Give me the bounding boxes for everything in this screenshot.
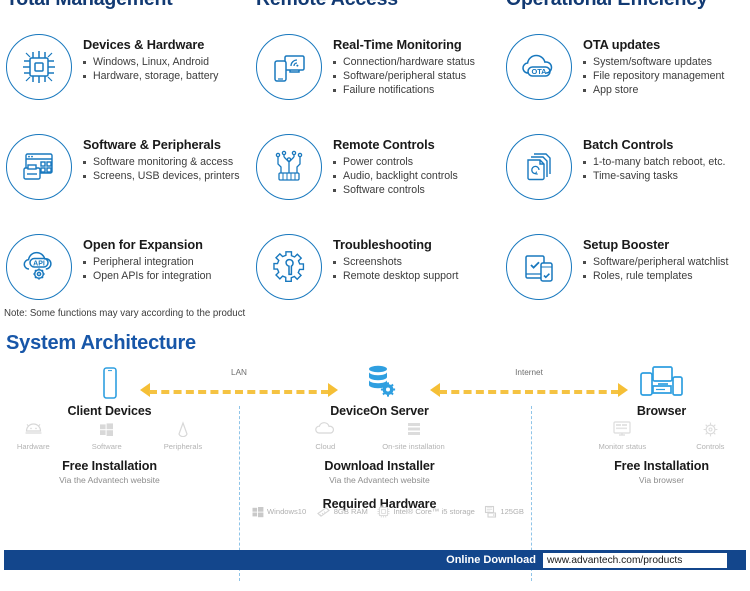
product-note: Note: Some functions may vary according … bbox=[4, 308, 245, 319]
peripherals-icon bbox=[164, 418, 202, 440]
cloud-ota-icon: OTA bbox=[506, 34, 572, 100]
feature-text: Batch Controls 1-to-many batch reboot, e… bbox=[583, 132, 726, 183]
feature-row: Software & Peripherals Software monitori… bbox=[0, 132, 750, 232]
hardware-item-windows: Windows10 bbox=[252, 506, 306, 518]
block-title: Free Installation bbox=[580, 459, 743, 473]
sub-item-label: Peripherals bbox=[164, 442, 202, 451]
feature-bullet: File repository management bbox=[583, 69, 724, 83]
arch-subicons-server: Cloud On-site installation bbox=[277, 418, 482, 451]
feature-text: Troubleshooting Screenshots Remote deskt… bbox=[333, 232, 458, 283]
feature-bullets: Software/peripheral watchlist Roles, rul… bbox=[583, 255, 728, 283]
arch-node-name: Client Devices bbox=[27, 404, 192, 418]
feature-card-setup-booster: Setup Booster Software/peripheral watchl… bbox=[500, 232, 750, 324]
controls-gear-icon bbox=[696, 418, 724, 440]
hardware-item-label: 8GB RAM bbox=[334, 507, 368, 516]
feature-bullet: Connection/hardware status bbox=[333, 55, 475, 69]
hardware-item-label: Windows10 bbox=[267, 507, 306, 516]
feature-title: Troubleshooting bbox=[333, 237, 458, 252]
feature-bullet: Roles, rule templates bbox=[583, 269, 728, 283]
arch-block-download-installer: Download Installer Via the Advantech web… bbox=[292, 459, 467, 485]
required-hardware-items: Windows10 8GB RAM Intel bbox=[252, 505, 524, 518]
feature-bullets: Peripheral integration Open APIs for int… bbox=[83, 255, 211, 283]
feature-bullet: Time-saving tasks bbox=[583, 169, 726, 183]
hardware-item-label: Intel® Core™ i5 storage bbox=[393, 507, 475, 516]
block-title: Free Installation bbox=[27, 459, 192, 473]
arch-subicons-client: Hardware Software bbox=[7, 418, 212, 451]
feature-bullets: Windows, Linux, Android Hardware, storag… bbox=[83, 55, 218, 83]
cloud-api-gear-icon: API bbox=[6, 234, 72, 300]
feature-card-software-peripherals: Software & Peripherals Software monitori… bbox=[0, 132, 250, 232]
block-subtitle: Via browser bbox=[580, 475, 743, 485]
hardware-item-cpu: Intel® Core™ i5 storage bbox=[377, 505, 475, 518]
on-site-server-icon bbox=[382, 418, 444, 440]
sub-item-label: Hardware bbox=[17, 442, 50, 451]
arch-node-client-devices: Client Devices bbox=[27, 360, 192, 418]
sub-item-monitor-status: Monitor status bbox=[599, 418, 647, 451]
feature-bullet: Open APIs for integration bbox=[83, 269, 211, 283]
feature-bullet: Power controls bbox=[333, 155, 458, 169]
hardware-item-label: 125GB bbox=[500, 507, 524, 516]
column-heading-operational-efficiency: Operational Efficiency bbox=[506, 0, 708, 11]
arch-node-name: DeviceOn Server bbox=[292, 404, 467, 418]
gear-wrench-icon bbox=[256, 234, 322, 300]
feature-bullet: Screens, USB devices, printers bbox=[83, 169, 240, 183]
arch-node-name: Browser bbox=[580, 404, 743, 418]
sub-item-label: Controls bbox=[696, 442, 724, 451]
sub-item-label: Monitor status bbox=[599, 442, 647, 451]
feature-text: Remote Controls Power controls Audio, ba… bbox=[333, 132, 458, 197]
hardware-item-storage: 125GB bbox=[484, 505, 524, 518]
feature-title: Batch Controls bbox=[583, 137, 726, 152]
database-gear-icon bbox=[292, 360, 467, 400]
arch-subicons-browser: Monitor status Controls bbox=[563, 418, 750, 451]
feature-bullet: System/software updates bbox=[583, 55, 724, 69]
feature-text: Software & Peripherals Software monitori… bbox=[83, 132, 240, 183]
feature-bullet: App store bbox=[583, 83, 724, 97]
sub-item-controls: Controls bbox=[696, 418, 724, 451]
multi-device-browser-icon bbox=[580, 360, 743, 400]
feature-title: Devices & Hardware bbox=[83, 37, 218, 52]
online-download-label: Online Download bbox=[446, 554, 536, 566]
windows-logo-icon bbox=[252, 506, 264, 518]
feature-row: Devices & Hardware Windows, Linux, Andro… bbox=[0, 32, 750, 132]
feature-title: OTA updates bbox=[583, 37, 724, 52]
feature-card-real-time-monitoring: Real-Time Monitoring Connection/hardware… bbox=[250, 32, 500, 132]
memory-stick-icon bbox=[316, 506, 331, 518]
feature-title: Open for Expansion bbox=[83, 237, 211, 252]
circuit-remote-icon bbox=[256, 134, 322, 200]
svg-text:API: API bbox=[33, 261, 45, 268]
feature-card-batch-controls: Batch Controls 1-to-many batch reboot, e… bbox=[500, 132, 750, 232]
sub-item-label: Software bbox=[92, 442, 122, 451]
software-printer-icon bbox=[6, 134, 72, 200]
android-hardware-icon bbox=[17, 418, 50, 440]
arch-node-browser: Browser bbox=[580, 360, 743, 418]
mobile-device-icon bbox=[27, 360, 192, 400]
feature-text: Real-Time Monitoring Connection/hardware… bbox=[333, 32, 475, 97]
feature-text: Setup Booster Software/peripheral watchl… bbox=[583, 232, 728, 283]
sub-item-label: On-site installation bbox=[382, 442, 444, 451]
cpu-icon bbox=[377, 505, 390, 518]
devices-signal-icon bbox=[256, 34, 322, 100]
feature-bullet: Windows, Linux, Android bbox=[83, 55, 218, 69]
feature-grid: Devices & Hardware Windows, Linux, Andro… bbox=[0, 32, 750, 324]
feature-bullet: Software monitoring & access bbox=[83, 155, 240, 169]
system-architecture-title: System Architecture bbox=[6, 332, 196, 355]
stacked-documents-refresh-icon bbox=[506, 134, 572, 200]
feature-bullet: Remote desktop support bbox=[333, 269, 458, 283]
feature-bullet: Audio, backlight controls bbox=[333, 169, 458, 183]
connector-label-lan: LAN bbox=[231, 368, 247, 377]
sub-item-hardware: Hardware bbox=[17, 418, 50, 451]
feature-bullet: Software/peripheral watchlist bbox=[583, 255, 728, 269]
feature-bullet: Screenshots bbox=[333, 255, 458, 269]
feature-title: Remote Controls bbox=[333, 137, 458, 152]
column-heading-total-management: Total Management bbox=[6, 0, 173, 11]
feature-text: OTA updates System/software updates File… bbox=[583, 32, 724, 97]
svg-text:OTA: OTA bbox=[531, 67, 547, 76]
sub-item-on-site-installation: On-site installation bbox=[382, 418, 444, 451]
feature-bullets: Connection/hardware status Software/peri… bbox=[333, 55, 475, 97]
feature-card-ota-updates: OTA OTA updates System/software updates … bbox=[500, 32, 750, 132]
feature-bullet: Software controls bbox=[333, 183, 458, 197]
hardware-item-ram: 8GB RAM bbox=[316, 506, 368, 518]
feature-bullets: 1-to-many batch reboot, etc. Time-saving… bbox=[583, 155, 726, 183]
block-subtitle: Via the Advantech website bbox=[292, 475, 467, 485]
feature-card-devices-hardware: Devices & Hardware Windows, Linux, Andro… bbox=[0, 32, 250, 132]
block-title: Download Installer bbox=[292, 459, 467, 473]
online-download-url[interactable]: www.advantech.com/products bbox=[543, 553, 727, 568]
feature-bullets: Software monitoring & access Screens, US… bbox=[83, 155, 240, 183]
sub-item-label: Cloud bbox=[314, 442, 336, 451]
feature-bullet: Hardware, storage, battery bbox=[83, 69, 218, 83]
feature-bullets: System/software updates File repository … bbox=[583, 55, 724, 97]
arch-node-deviceon-server: DeviceOn Server bbox=[292, 360, 467, 418]
sub-item-software: Software bbox=[92, 418, 122, 451]
feature-text: Devices & Hardware Windows, Linux, Andro… bbox=[83, 32, 218, 83]
feature-title: Software & Peripherals bbox=[83, 137, 240, 152]
feature-bullet: Software/peripheral status bbox=[333, 69, 475, 83]
feature-bullets: Screenshots Remote desktop support bbox=[333, 255, 458, 283]
feature-bullets: Power controls Audio, backlight controls… bbox=[333, 155, 458, 197]
chip-icon bbox=[6, 34, 72, 100]
feature-card-troubleshooting: Troubleshooting Screenshots Remote deskt… bbox=[250, 232, 500, 324]
datasheet-page: Total Management Remote Access Operation… bbox=[0, 0, 750, 591]
checklist-devices-icon bbox=[506, 234, 572, 300]
feature-bullet: Failure notifications bbox=[333, 83, 475, 97]
column-headings: Total Management Remote Access Operation… bbox=[0, 0, 750, 14]
monitor-status-icon bbox=[599, 418, 647, 440]
connector-label-internet: Internet bbox=[515, 368, 543, 377]
feature-card-remote-controls: Remote Controls Power controls Audio, ba… bbox=[250, 132, 500, 232]
feature-text: Open for Expansion Peripheral integratio… bbox=[83, 232, 211, 283]
windows-software-icon bbox=[92, 418, 122, 440]
sub-item-peripherals: Peripherals bbox=[164, 418, 202, 451]
feature-title: Real-Time Monitoring bbox=[333, 37, 475, 52]
arch-block-client-install: Free Installation Via the Advantech webs… bbox=[27, 459, 192, 485]
feature-bullet: 1-to-many batch reboot, etc. bbox=[583, 155, 726, 169]
arch-block-browser-install: Free Installation Via browser bbox=[580, 459, 743, 485]
column-heading-remote-access: Remote Access bbox=[256, 0, 398, 11]
feature-bullet: Peripheral integration bbox=[83, 255, 211, 269]
sub-item-cloud: Cloud bbox=[314, 418, 336, 451]
footer-bar: Online Download www.advantech.com/produc… bbox=[4, 550, 746, 570]
feature-title: Setup Booster bbox=[583, 237, 728, 252]
storage-drive-icon bbox=[484, 505, 497, 518]
block-subtitle: Via the Advantech website bbox=[27, 475, 192, 485]
cloud-icon bbox=[314, 418, 336, 440]
